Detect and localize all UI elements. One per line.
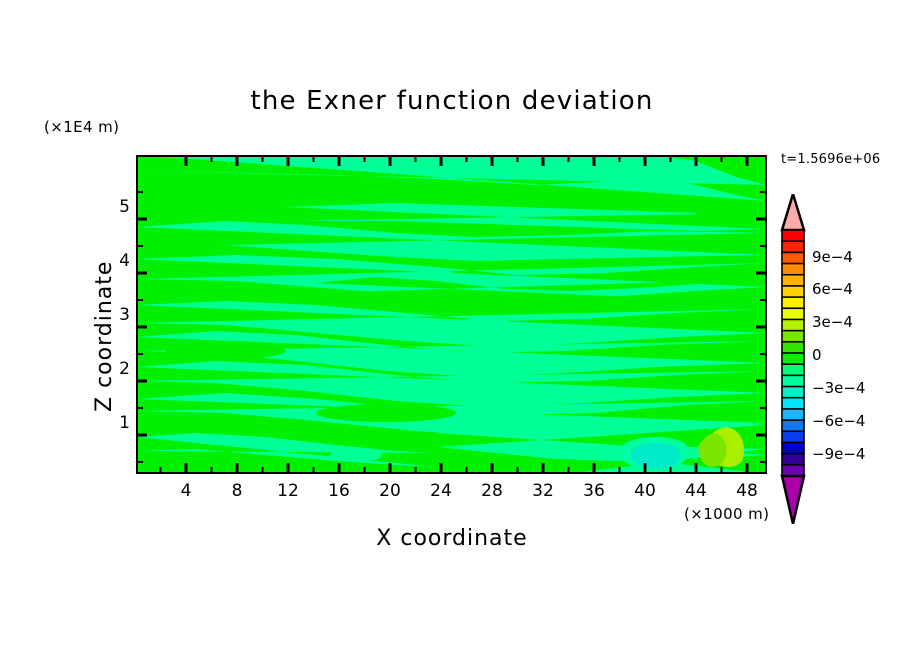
- y-axis-unit-label: (×1E4 m): [44, 118, 119, 136]
- x-tick-label: 48: [727, 481, 767, 501]
- contour-field: [136, 155, 767, 474]
- colorbar-tick-label: 6e−4: [812, 280, 853, 298]
- x-tick-label: 24: [421, 481, 461, 501]
- colorbar-swatches: [778, 194, 808, 524]
- page-title: the Exner function deviation: [0, 86, 904, 116]
- y-tick-label: 5: [100, 197, 130, 217]
- x-tick-label: 44: [676, 481, 716, 501]
- y-tick-label: 3: [100, 305, 130, 325]
- time-stamp-label: t=1.5696e+06: [781, 152, 880, 167]
- colorbar-tick-label: 0: [812, 346, 822, 364]
- colorbar-tick-label: −3e−4: [812, 379, 865, 397]
- colorbar-tick-label: 9e−4: [812, 248, 853, 266]
- y-tick-label: 2: [100, 359, 130, 379]
- colorbar: [778, 194, 808, 524]
- x-tick-label: 12: [268, 481, 308, 501]
- x-axis-unit-label: (×1000 m): [684, 505, 769, 523]
- colorbar-tick-label: 3e−4: [812, 313, 853, 331]
- x-axis-title: X coordinate: [0, 526, 904, 551]
- x-tick-label: 32: [523, 481, 563, 501]
- x-tick-label: 20: [370, 481, 410, 501]
- y-axis-title: Z coordinate: [92, 261, 117, 412]
- x-tick-label: 8: [217, 481, 257, 501]
- y-tick-label: 4: [100, 251, 130, 271]
- y-tick-label: 1: [100, 413, 130, 433]
- contour-plot-area: [136, 155, 767, 474]
- x-tick-label: 36: [574, 481, 614, 501]
- x-tick-label: 4: [166, 481, 206, 501]
- colorbar-tick-label: −9e−4: [812, 445, 865, 463]
- x-tick-label: 16: [319, 481, 359, 501]
- colorbar-tick-label: −6e−4: [812, 412, 865, 430]
- x-tick-label: 28: [472, 481, 512, 501]
- x-tick-label: 40: [625, 481, 665, 501]
